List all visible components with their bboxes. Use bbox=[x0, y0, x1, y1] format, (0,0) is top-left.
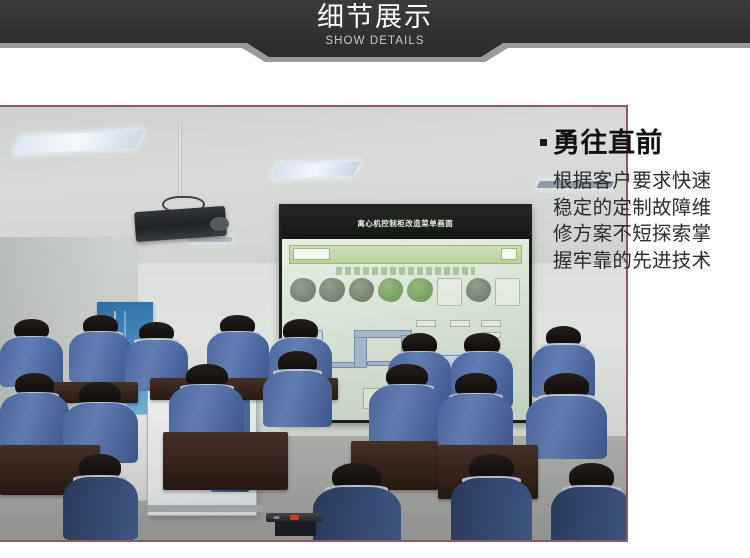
projector-mount-rod bbox=[178, 124, 182, 198]
slide-equipment-item bbox=[378, 278, 403, 302]
slide-equipment-item bbox=[407, 278, 432, 302]
audience-person bbox=[263, 351, 332, 428]
slide-subtitle-bar bbox=[336, 267, 475, 276]
audience-rows bbox=[0, 315, 626, 540]
av-led-indicator bbox=[290, 515, 299, 520]
slide-toolbar-tag bbox=[501, 248, 517, 260]
slide-equipment-item bbox=[290, 278, 315, 302]
section-header-banner: 细节展示 SHOW DETAILS bbox=[0, 0, 750, 62]
page-root: 细节展示 SHOW DETAILS bbox=[0, 0, 750, 558]
audience-person bbox=[438, 373, 513, 454]
slide-equipment-item bbox=[466, 278, 491, 302]
audience-person bbox=[551, 463, 626, 540]
square-bullet-icon bbox=[540, 139, 547, 146]
banner-text-group: 细节展示 SHOW DETAILS bbox=[0, 0, 750, 57]
slide-equipment-item bbox=[319, 278, 344, 302]
slide-equipment-item bbox=[349, 278, 374, 302]
copy-body-line: 握牢靠的先进技术 bbox=[553, 248, 750, 275]
audience-person bbox=[451, 454, 532, 540]
audience-person bbox=[0, 373, 69, 450]
audience-person bbox=[526, 373, 607, 459]
slide-toolbar bbox=[289, 245, 522, 264]
detail-copy-block: 勇往直前 根据客户要求快速 稳定的定制故障维 修方案不短探索掌 握牢靠的先进技术 bbox=[540, 128, 750, 274]
copy-body: 根据客户要求快速 稳定的定制故障维 修方案不短探索掌 握牢靠的先进技术 bbox=[553, 168, 750, 274]
slide-equipment-item bbox=[495, 278, 520, 307]
copy-body-line: 修方案不短探索掌 bbox=[553, 221, 750, 248]
av-control-box bbox=[266, 513, 322, 522]
copy-title: 勇往直前 bbox=[553, 128, 663, 159]
audience-person bbox=[313, 463, 401, 540]
banner-title-cn: 细节展示 bbox=[317, 3, 433, 33]
banner-title-en: SHOW DETAILS bbox=[325, 34, 424, 49]
audience-person bbox=[369, 364, 444, 445]
av-device-stand bbox=[275, 520, 316, 536]
slide-equipment-row bbox=[290, 278, 520, 312]
copy-body-line: 稳定的定制故障维 bbox=[553, 195, 750, 222]
slide-toolbar-tag bbox=[293, 248, 330, 260]
copy-body-line: 根据客户要求快速 bbox=[553, 168, 750, 195]
detail-photo-frame: 离心机控制柜改造菜单画面 bbox=[0, 105, 628, 542]
classroom-desk bbox=[163, 432, 288, 491]
slide-equipment-item bbox=[437, 278, 462, 307]
classroom-photo: 离心机控制柜改造菜单画面 bbox=[0, 107, 626, 540]
audience-person bbox=[69, 315, 132, 383]
copy-heading-row: 勇往直前 bbox=[540, 128, 750, 159]
audience-person bbox=[63, 454, 138, 540]
av-knob-icon bbox=[273, 516, 280, 520]
slide-title: 离心机控制柜改造菜单画面 bbox=[282, 207, 530, 239]
